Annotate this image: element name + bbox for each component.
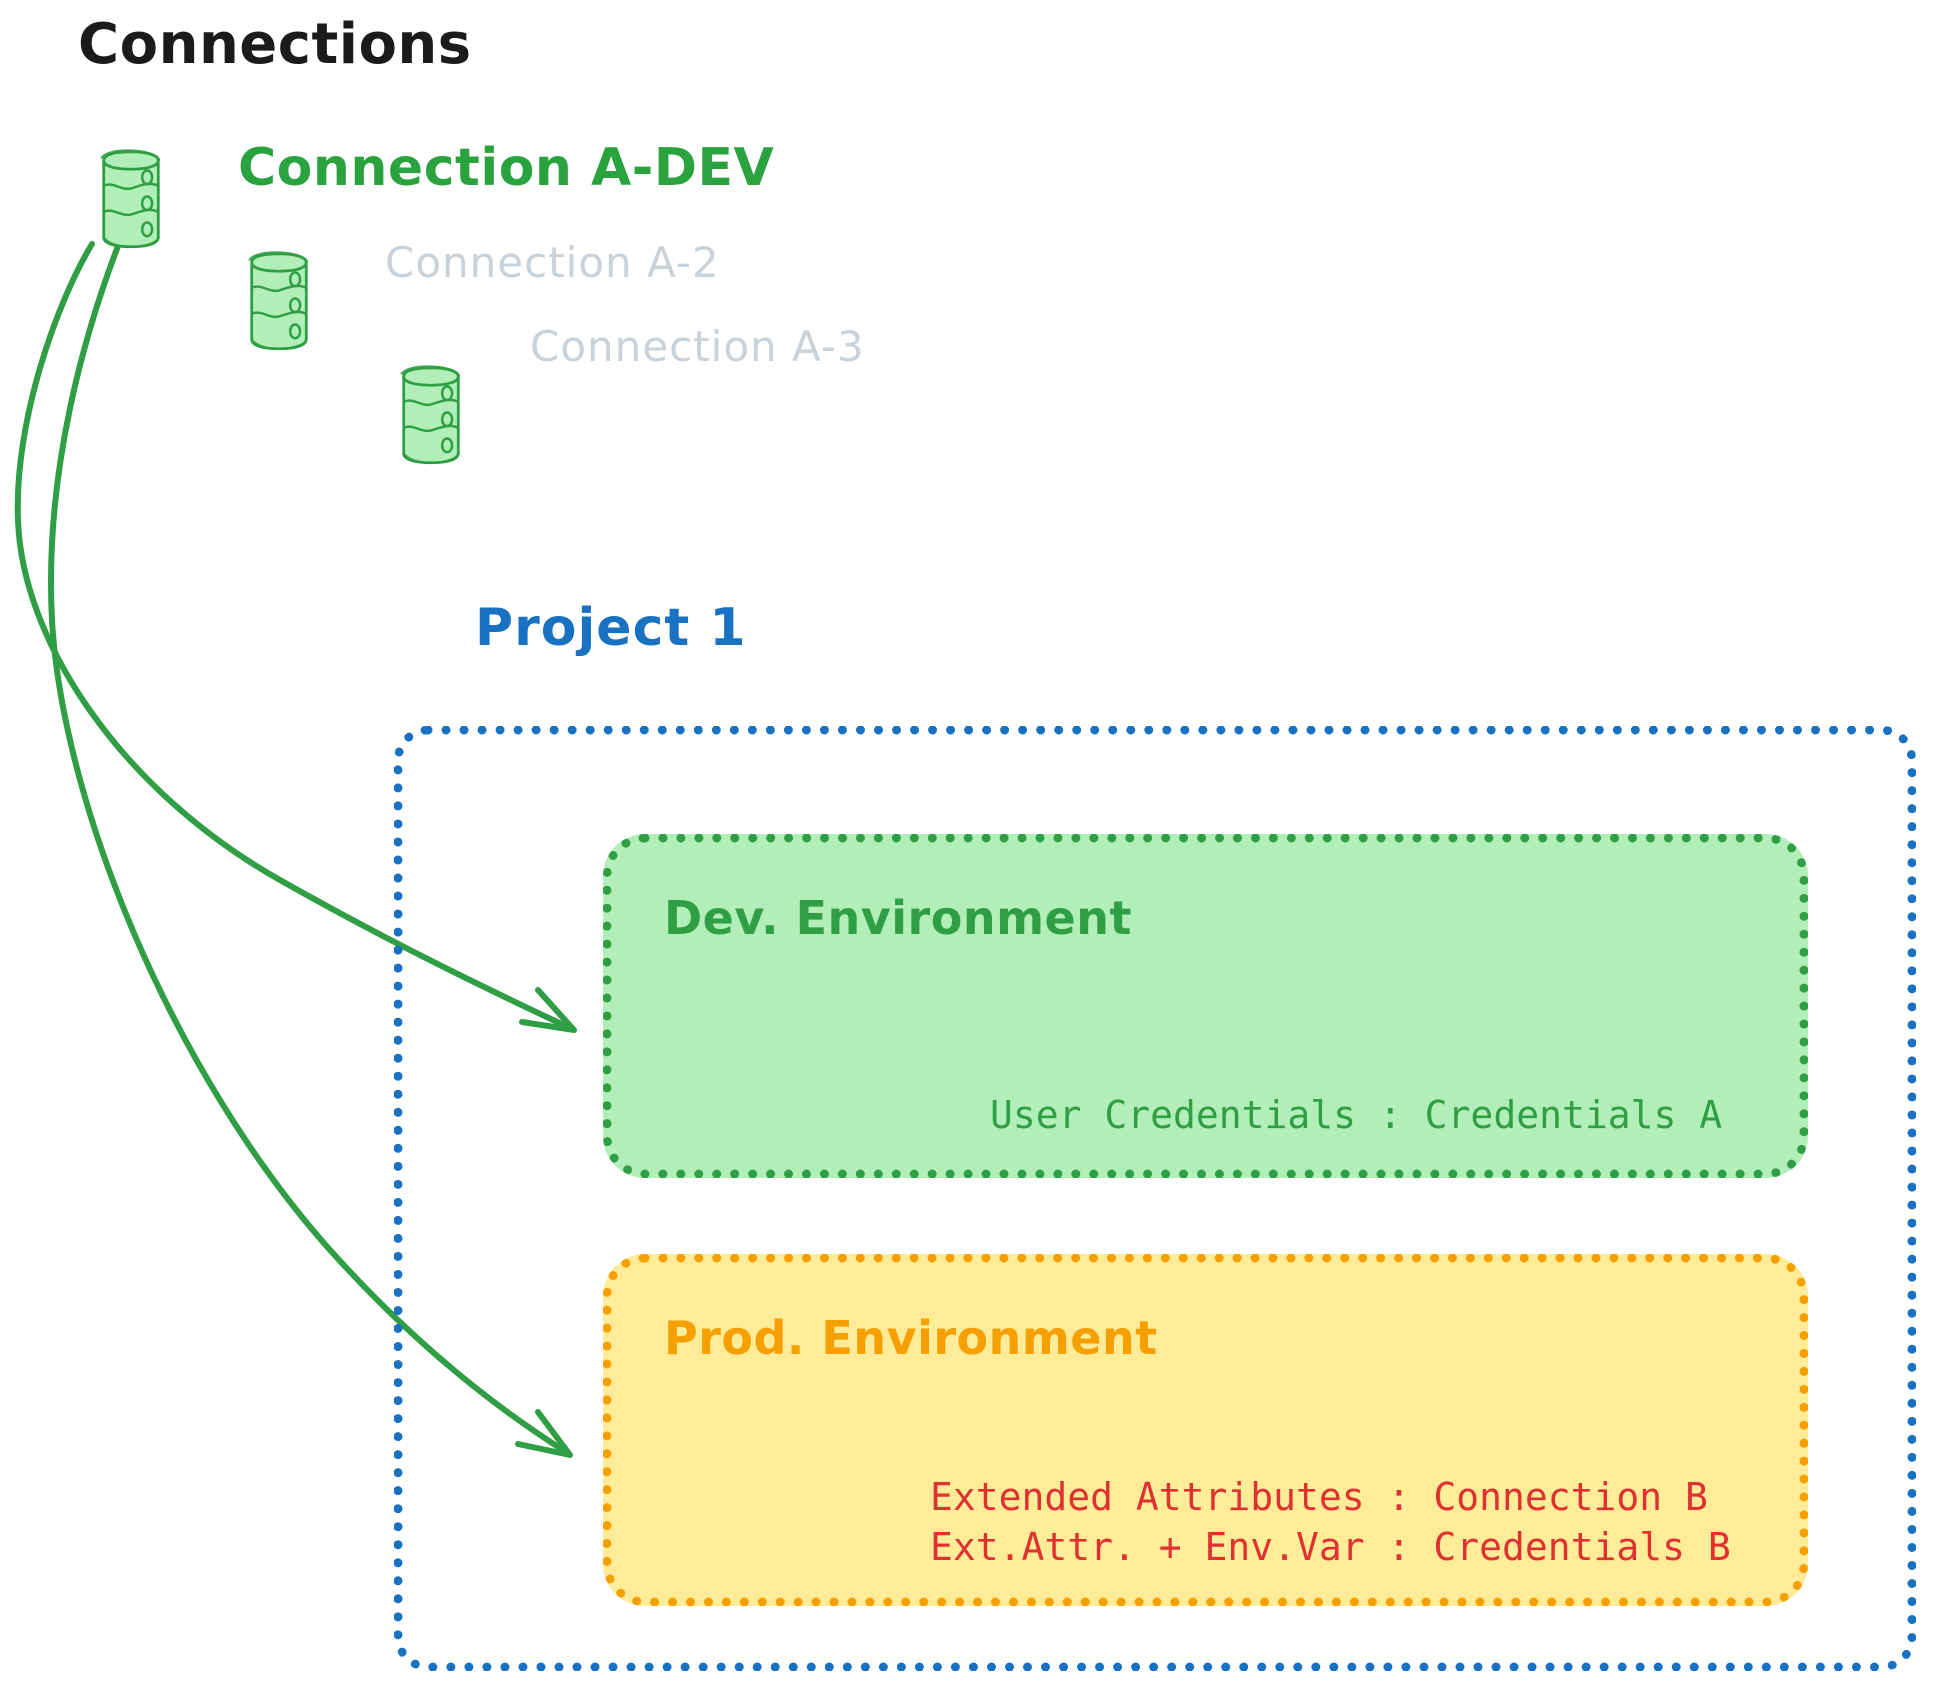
connection-label-a-3[interactable]: Connection A-3 [530,322,865,371]
project-heading: Project 1 [475,598,747,658]
dev-environment-title: Dev. Environment [664,891,1132,945]
prod-environment-extended-attributes-line: Extended Attributes : Connection B [930,1475,1708,1519]
prod-environment-box[interactable]: Prod. Environment Extended Attributes : … [603,1254,1808,1606]
database-cylinder-icon-conn-a-3[interactable] [402,367,459,463]
dev-environment-box[interactable]: Dev. Environment User Credentials : Cred… [603,834,1808,1178]
database-cylinder-icon-conn-a-2[interactable] [250,253,307,349]
database-cylinder-icon-conn-a-dev[interactable] [102,151,159,247]
prod-environment-title: Prod. Environment [664,1311,1158,1365]
connections-heading: Connections [78,12,472,77]
prod-environment-env-var-line: Ext.Attr. + Env.Var : Credentials B [930,1525,1731,1569]
diagram-canvas: Connections Connection A-DEV Connection … [0,0,1938,1691]
connection-label-a-2[interactable]: Connection A-2 [385,238,720,287]
dev-environment-credentials-line: User Credentials : Credentials A [990,1093,1722,1137]
connection-label-a-dev[interactable]: Connection A-DEV [238,138,774,198]
